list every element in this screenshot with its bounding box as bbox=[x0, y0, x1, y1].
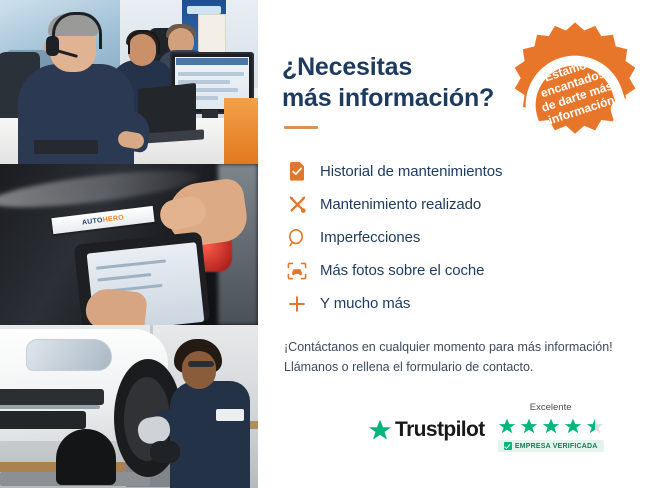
magnifier-icon bbox=[282, 229, 312, 247]
trustpilot-wordmark: Trustpilot bbox=[395, 418, 485, 442]
orange-chair bbox=[224, 98, 258, 164]
car-headlight bbox=[26, 339, 112, 371]
page-title-line-1: ¿Necesitas bbox=[282, 53, 412, 81]
star-filled bbox=[563, 416, 583, 436]
trustpilot-widget[interactable]: Trustpilot Excelente bbox=[368, 402, 605, 452]
list-item: Mantenimiento realizado bbox=[282, 188, 632, 221]
tablet-row bbox=[97, 273, 151, 282]
car-focus-frame-icon bbox=[282, 262, 312, 280]
list-item: Imperfecciones bbox=[282, 221, 632, 254]
list-item-label: Más fotos sobre el coche bbox=[312, 262, 484, 279]
trustpilot-logo: Trustpilot bbox=[368, 418, 485, 452]
car-inspection-ruler-photo: AUTOHERO bbox=[0, 164, 258, 325]
contact-paragraph: ¡Contáctanos en cualquier momento para m… bbox=[284, 337, 629, 378]
list-item-label: Mantenimiento realizado bbox=[312, 196, 481, 213]
mechanic-wheel-inspection-photo bbox=[0, 325, 258, 488]
mechanic-glove-dark bbox=[150, 441, 180, 463]
car-grille-upper bbox=[0, 389, 104, 405]
trustpilot-stars bbox=[497, 416, 605, 436]
contact-paragraph-line-2: Llámanos o rellena el formulario de cont… bbox=[284, 360, 533, 374]
call-center-agents-photo bbox=[0, 0, 258, 164]
mechanic-head bbox=[182, 351, 216, 389]
content-column: ¿Necesitas más información? Estamos enca… bbox=[258, 0, 650, 488]
list-item: Y mucho más bbox=[282, 287, 632, 320]
star-filled bbox=[541, 416, 561, 436]
headset-band-icon bbox=[52, 12, 102, 49]
info-badge: Estamos encantados de darte más informac… bbox=[514, 18, 636, 140]
check-icon bbox=[504, 442, 512, 450]
car-grille-lower bbox=[0, 411, 86, 429]
agent-two-headset-icon bbox=[128, 30, 160, 54]
list-item-label: Imperfecciones bbox=[312, 229, 420, 246]
page-title-line-2: más información? bbox=[282, 84, 494, 112]
headset-earcup-icon bbox=[46, 36, 59, 56]
title-divider bbox=[284, 126, 318, 129]
ruler-brand-text: AUTOHERO bbox=[82, 214, 125, 226]
page-title: ¿Necesitas más información? bbox=[282, 52, 522, 113]
contact-paragraph-line-1: ¡Contáctanos en cualquier momento para m… bbox=[284, 340, 613, 354]
list-item-label: Y mucho más bbox=[312, 295, 410, 312]
trustpilot-rating: Excelente bbox=[497, 402, 605, 452]
tablet-row bbox=[96, 259, 166, 269]
feature-list: Historial de mantenimientos Mantenimient… bbox=[282, 155, 632, 320]
star-filled bbox=[519, 416, 539, 436]
verified-company-label: EMPRESA VERIFICADA bbox=[515, 443, 598, 450]
inspector-hand-holding-tablet bbox=[84, 287, 148, 325]
monitor-app-bar bbox=[176, 58, 248, 65]
crossed-tools-icon bbox=[282, 195, 312, 214]
trustpilot-rating-label: Excelente bbox=[530, 402, 572, 413]
list-item-label: Historial de mantenimientos bbox=[312, 163, 502, 180]
trustpilot-star-icon bbox=[368, 419, 392, 442]
star-filled bbox=[497, 416, 517, 436]
bumper-chrome-trim bbox=[0, 405, 100, 409]
monitor-row bbox=[178, 72, 244, 76]
mechanic-body bbox=[170, 381, 250, 488]
verified-company-badge: EMPRESA VERIFICADA bbox=[498, 440, 604, 452]
wall-poster bbox=[198, 14, 226, 56]
star-half bbox=[585, 416, 605, 436]
promo-card: AUTOHERO bbox=[0, 0, 650, 488]
photo-column: AUTOHERO bbox=[0, 0, 258, 488]
clipboard-check-icon bbox=[282, 162, 312, 181]
keyboard bbox=[34, 140, 98, 154]
list-item: Más fotos sobre el coche bbox=[282, 254, 632, 287]
plus-icon bbox=[282, 295, 312, 313]
uniform-logo-patch bbox=[216, 409, 244, 421]
rear-wheel bbox=[56, 429, 116, 485]
safety-glasses-icon bbox=[188, 361, 214, 367]
